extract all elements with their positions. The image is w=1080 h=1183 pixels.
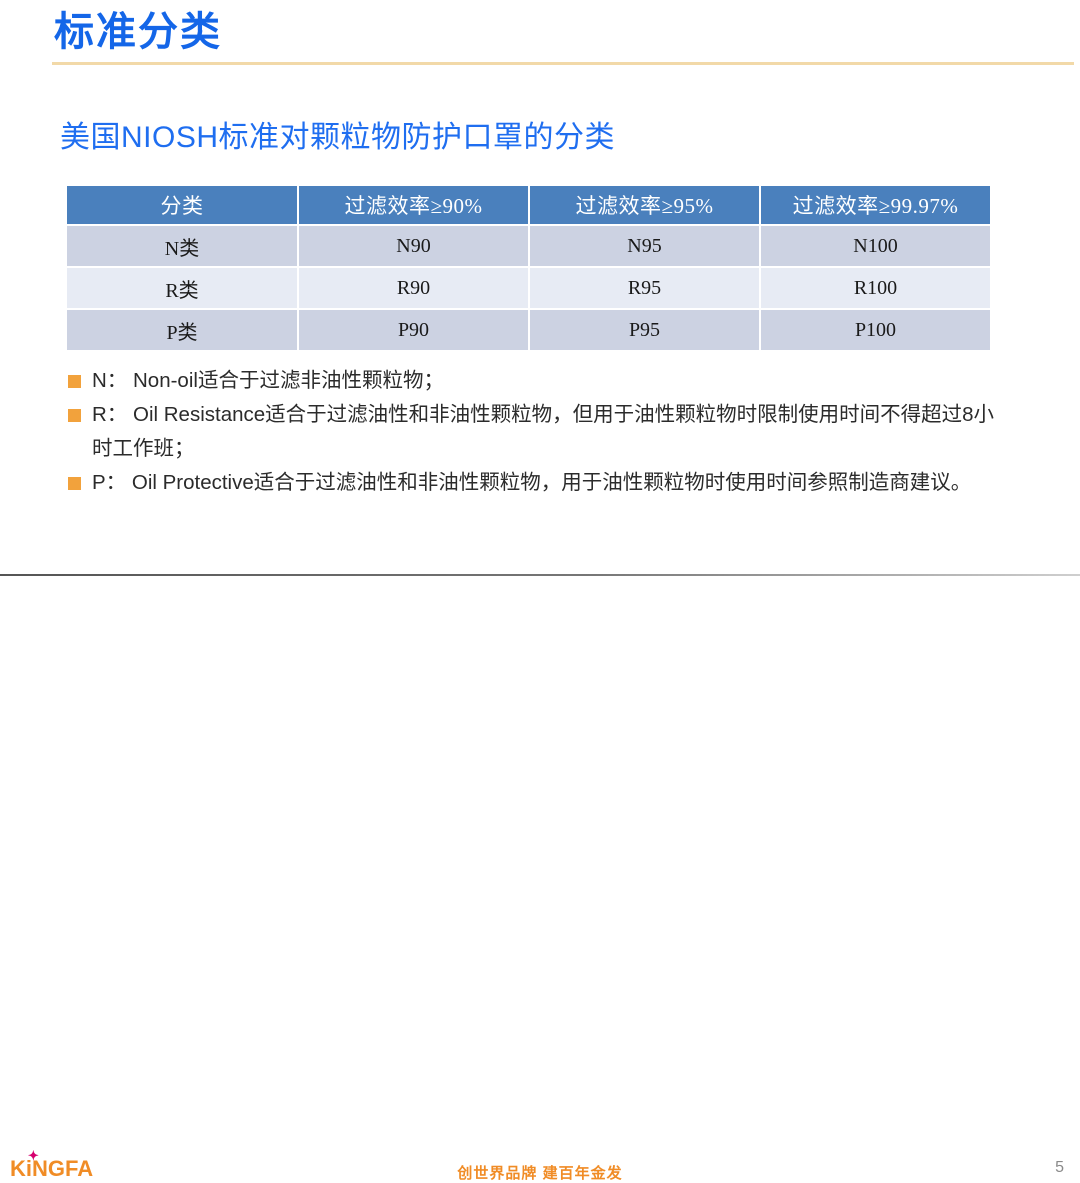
cell-eff-90: R90: [299, 268, 528, 308]
cell-category: N类: [67, 226, 297, 266]
list-item-label: P： Oil Protective适合于过滤油性和非油性颗粒物，用于油性颗粒物时…: [92, 466, 998, 500]
page-title: 标准分类: [54, 8, 222, 56]
cell-eff-95: N95: [530, 226, 759, 266]
column-header-eff-90: 过滤效率≥90%: [299, 186, 528, 224]
cell-category: R类: [67, 268, 297, 308]
cell-eff-90: N90: [299, 226, 528, 266]
cell-eff-90: P90: [299, 310, 528, 350]
classification-table: 分类 过滤效率≥90% 过滤效率≥95% 过滤效率≥99.97% N类 N90 …: [65, 184, 992, 352]
title-divider: [52, 62, 1074, 65]
list-item: R： Oil Resistance适合于过滤油性和非油性颗粒物，但用于油性颗粒物…: [68, 398, 998, 466]
page-number: 5: [1055, 1159, 1064, 1177]
cell-eff-9997: R100: [761, 268, 990, 308]
square-bullet-icon: [68, 409, 81, 422]
list-item-label: N： Non-oil适合于过滤非油性颗粒物；: [92, 364, 998, 398]
star-icon: ✦: [28, 1149, 39, 1162]
cell-eff-9997: N100: [761, 226, 990, 266]
square-bullet-icon: [68, 375, 81, 388]
cell-category: P类: [67, 310, 297, 350]
square-bullet-icon: [68, 477, 81, 490]
cell-eff-9997: P100: [761, 310, 990, 350]
column-header-category: 分类: [67, 186, 297, 224]
list-item: P： Oil Protective适合于过滤油性和非油性颗粒物，用于油性颗粒物时…: [68, 466, 998, 500]
footer-slogan: 创世界品牌 建百年金发: [0, 1162, 1080, 1183]
list-item: N： Non-oil适合于过滤非油性颗粒物；: [68, 364, 998, 398]
column-header-eff-95: 过滤效率≥95%: [530, 186, 759, 224]
column-header-eff-9997: 过滤效率≥99.97%: [761, 186, 990, 224]
section-subtitle: 美国NIOSH标准对颗粒物防护口罩的分类: [60, 118, 615, 158]
list-item-label: R： Oil Resistance适合于过滤油性和非油性颗粒物，但用于油性颗粒物…: [92, 398, 998, 466]
table-row: R类 R90 R95 R100: [67, 268, 990, 308]
table-header-row: 分类 过滤效率≥90% 过滤效率≥95% 过滤效率≥99.97%: [67, 186, 990, 224]
footer-bar: K✦iNGFA 创世界品牌 建百年金发 5: [0, 576, 1080, 607]
table-row: P类 P90 P95 P100: [67, 310, 990, 350]
cell-eff-95: R95: [530, 268, 759, 308]
table-row: N类 N90 N95 N100: [67, 226, 990, 266]
notes-list: N： Non-oil适合于过滤非油性颗粒物； R： Oil Resistance…: [68, 364, 998, 500]
cell-eff-95: P95: [530, 310, 759, 350]
